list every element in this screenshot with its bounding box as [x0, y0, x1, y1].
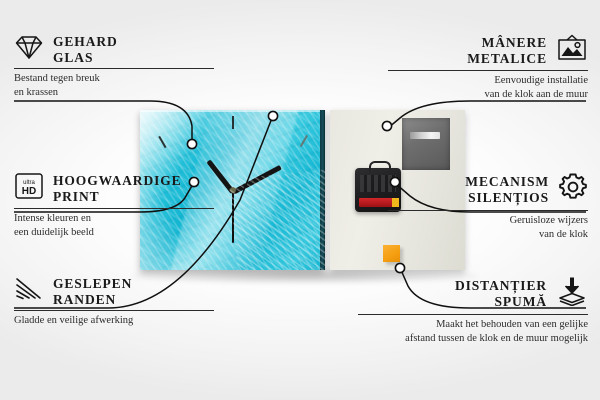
- hands-center-cap: [230, 187, 236, 193]
- minute-hand: [231, 165, 281, 195]
- feature-title: GEHARD GLAS: [53, 34, 118, 65]
- feature-description: Intense kleuren en een duidelijk beeld: [14, 209, 214, 240]
- feature-manere-metalice: MÂNERE METALICE Eenvoudige installatie v…: [388, 34, 588, 102]
- glass-beveled-edge: [320, 110, 325, 270]
- feature-hoogwaardige-print: ultra HD HOOGWAARDIGE PRINT Intense kleu…: [14, 172, 214, 240]
- feature-title: HOOGWAARDIGE PRINT: [53, 173, 182, 204]
- feature-geslepen-randen: GESLEPEN RANDEN Gladde en veilige afwerk…: [14, 276, 214, 328]
- feature-title: DISTANȚIER SPUMĂ: [455, 278, 547, 309]
- feature-header: MECANISM SILENȚIOS: [388, 172, 588, 210]
- feature-distantier-spuma: DISTANȚIER SPUMĂ Maakt het behouden van …: [358, 276, 588, 346]
- feature-description: Gladde en veilige afwerking: [14, 311, 214, 328]
- feature-header: ultra HD HOOGWAARDIGE PRINT: [14, 172, 214, 208]
- feature-description: Eenvoudige installatie van de klok aan d…: [388, 71, 588, 102]
- feature-header: GESLEPEN RANDEN: [14, 276, 214, 310]
- feature-description: Bestand tegen breuk en krassen: [14, 69, 214, 100]
- ultra-hd-icon: ultra HD: [14, 172, 44, 205]
- feature-title: MÂNERE METALICE: [467, 35, 547, 66]
- feature-description: Maakt het behouden van een gelijke afsta…: [358, 315, 588, 346]
- feature-header: GEHARD GLAS: [14, 34, 214, 68]
- mechanism-loop: [369, 161, 391, 172]
- feature-header: DISTANȚIER SPUMĂ: [358, 276, 588, 314]
- gear-icon: [558, 172, 588, 207]
- feature-gehard-glas: GEHARD GLAS Bestand tegen breuk en krass…: [14, 34, 214, 100]
- feature-header: MÂNERE METALICE: [388, 34, 588, 70]
- feature-mecanism-silentios: MECANISM SILENȚIOS Geruisloze wijzers va…: [388, 172, 588, 242]
- feature-title: MECANISM SILENȚIOS: [465, 174, 549, 205]
- feature-title: GESLEPEN RANDEN: [53, 276, 132, 307]
- beveled-edges-icon: [14, 276, 44, 307]
- hanger-slot: [410, 132, 440, 139]
- second-hand: [232, 191, 234, 243]
- spacer-layers-icon: [556, 276, 588, 311]
- foam-spacer: [383, 245, 400, 262]
- metal-hanger-plate: [402, 118, 450, 170]
- picture-hanger-icon: [556, 34, 588, 67]
- svg-text:HD: HD: [22, 186, 36, 197]
- product-infographic: GEHARD GLAS Bestand tegen breuk en krass…: [0, 0, 600, 400]
- feature-description: Geruisloze wijzers van de klok: [388, 211, 588, 242]
- diamond-icon: [14, 34, 44, 65]
